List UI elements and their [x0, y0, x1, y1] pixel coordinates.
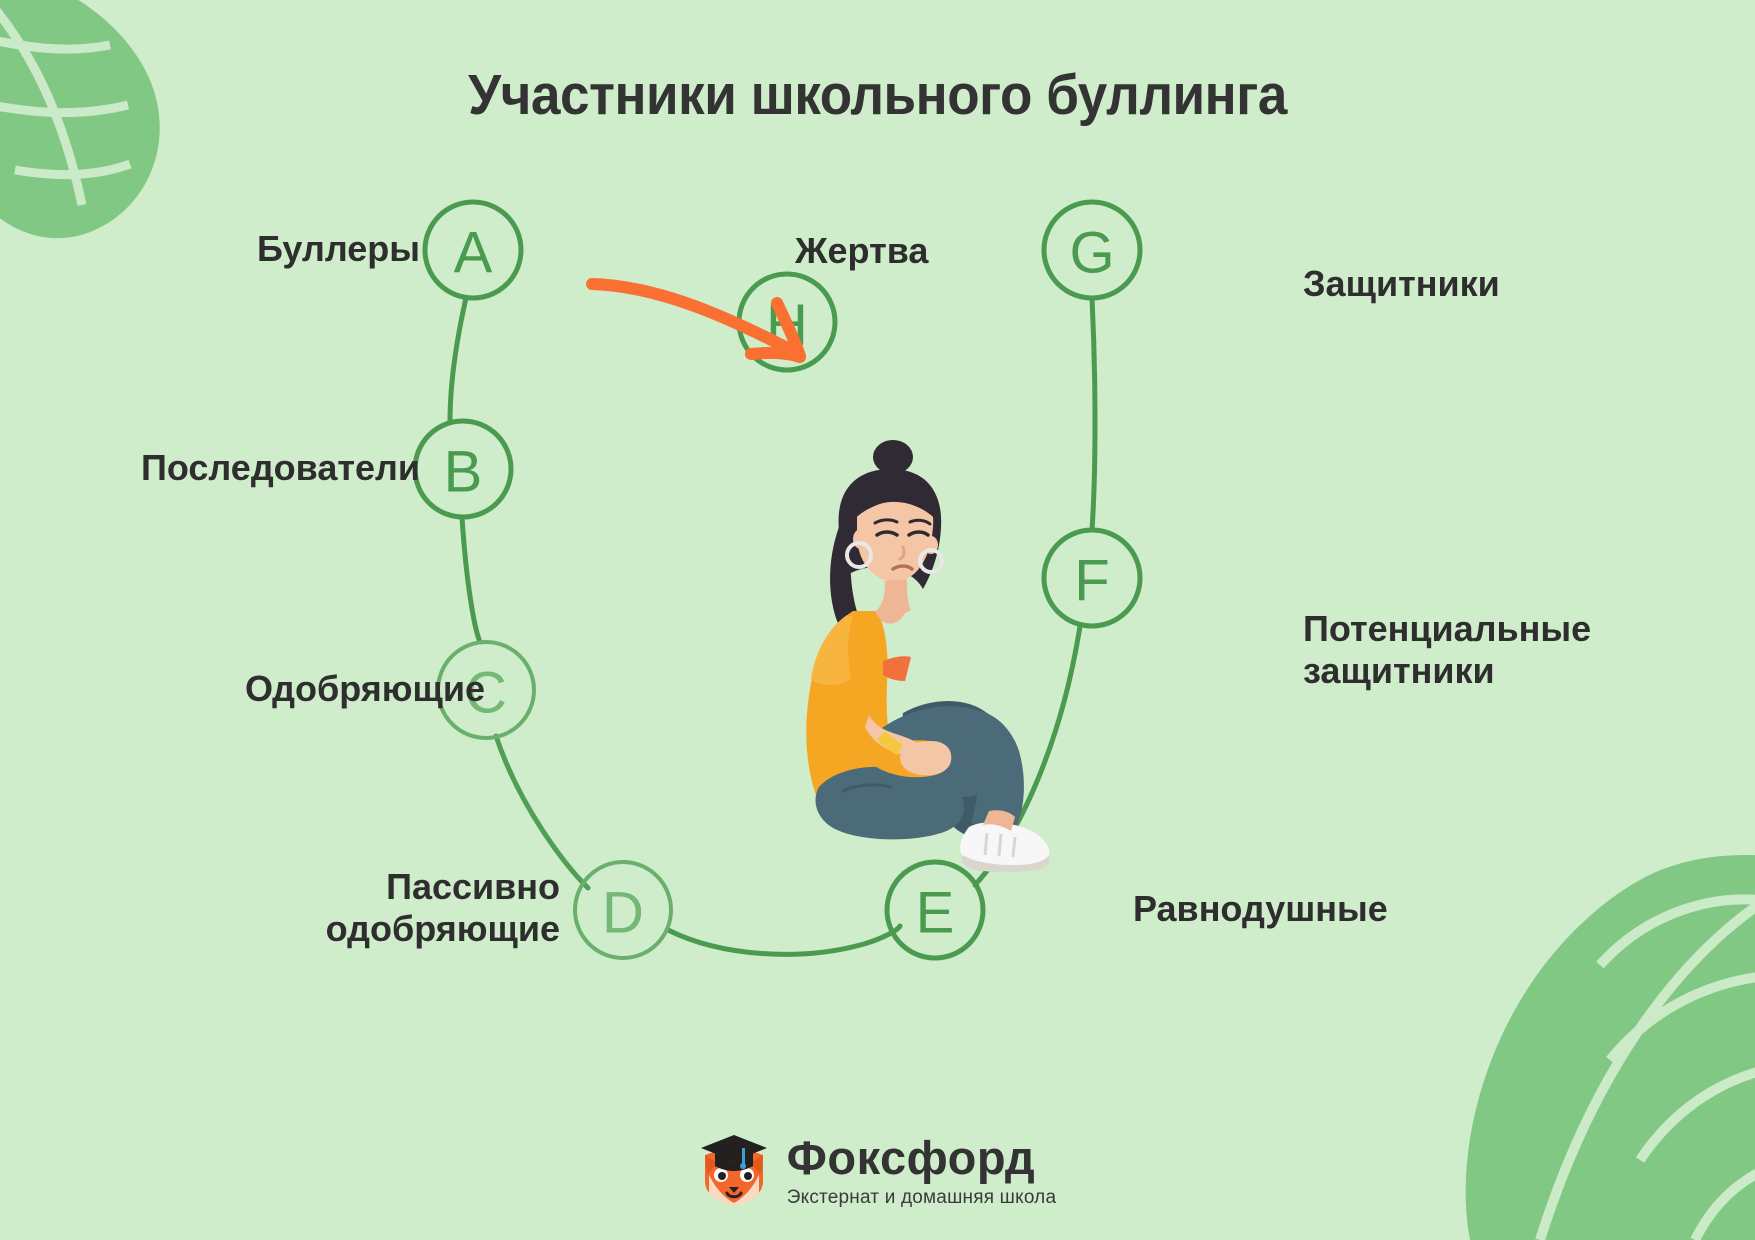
node-circle-b[interactable]: B [415, 421, 511, 517]
node-letter-b: B [444, 440, 483, 505]
node-letter-a: A [454, 221, 493, 286]
node-circle-d[interactable]: D [575, 862, 671, 958]
node-circle-g[interactable]: G [1044, 202, 1140, 298]
logo-tagline: Экстернат и домашняя школа [787, 1188, 1056, 1207]
label-bullers: Буллеры [257, 228, 420, 270]
label-potential-defenders: Потенциальные защитники [1303, 608, 1591, 692]
label-indifferent: Равнодушные [1133, 888, 1388, 930]
label-defenders: Защитники [1303, 263, 1500, 305]
logo-wordmark: Фоксфорд [787, 1134, 1035, 1181]
fox-in-graduation-cap-icon [699, 1135, 769, 1207]
label-passive-approving: Пассивно одобряющие [326, 866, 560, 950]
node-circle-a[interactable]: A [425, 202, 521, 298]
brand-logo[interactable]: Фоксфорд Экстернат и домашняя школа [0, 1134, 1755, 1207]
node-letter-f: F [1074, 549, 1109, 614]
logo-text-block: Фоксфорд Экстернат и домашняя школа [787, 1134, 1056, 1207]
node-letter-d: D [602, 881, 644, 946]
label-victim: Жертва [795, 230, 928, 272]
node-circle-e[interactable]: E [887, 862, 983, 958]
label-followers: Последователи [141, 447, 420, 489]
sad-girl-illustration [735, 435, 1065, 875]
infographic-canvas: Участники школьного буллинга A B C D [0, 0, 1755, 1240]
label-approving: Одобряющие [245, 668, 485, 710]
node-letter-e: E [916, 881, 955, 946]
node-letter-g: G [1069, 221, 1114, 286]
